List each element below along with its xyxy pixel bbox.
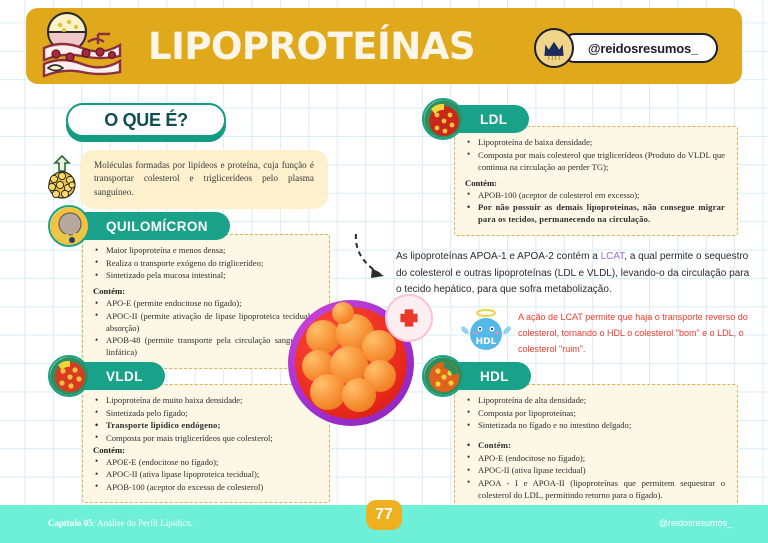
list-item: Composta por mais colesterol que triglic… [465, 149, 725, 173]
list-item: APOB-48 (permite transporte pela circula… [93, 334, 317, 358]
vldl-contem-list: APOE-E (endocitose no fígado); APOC-II (… [93, 456, 317, 493]
section-title-vldl: VLDL [106, 369, 143, 384]
section-header-ldl: LDL [430, 105, 529, 133]
lcat-text-part1: As lipoproteínas APOA-1 e APOA-2 contém … [396, 251, 601, 262]
footer-chapter-title: : Análise do Perfil Lipídico. [93, 518, 193, 528]
list-item: Por não possuir as demais lipoproteínas,… [465, 201, 725, 225]
list-item: Transporte lipídico endógeno; [93, 419, 317, 431]
brand-badge[interactable]: @reidosresumos_ [534, 28, 718, 68]
list-item: Maior lipoproteína e menos densa; [93, 244, 317, 256]
cholesterol-vessel-icon [40, 12, 124, 80]
footer-handle: @reidosresumos_ [659, 518, 732, 528]
quilomicron-contem-list: APO-E (permite endocitose no fígado); AP… [93, 297, 317, 358]
ldl-icon [422, 98, 464, 140]
quilomicron-icon [48, 205, 90, 247]
list-item: Composta por lipoproteínas; [465, 407, 725, 419]
hdl-icon [422, 355, 464, 397]
ldl-bullets: Lipoproteína de baixa densidade; Compost… [465, 136, 725, 173]
vldl-icon [48, 355, 90, 397]
red-note-text: A ação de LCAT permite que haja o transp… [518, 310, 754, 357]
section-title-hdl: HDL [480, 369, 509, 384]
lcat-highlight: LCAT [601, 251, 625, 262]
hdl-contem-list: Contém: APO-E (endocitose no fígado); AP… [465, 439, 725, 501]
section-header-vldl: VLDL [56, 362, 165, 390]
page-number-badge: 77 [366, 500, 402, 530]
list-item: Sintetizada no fígado e no intestino del… [465, 419, 725, 431]
list-item: Lipoproteína de baixa densidade; [465, 136, 725, 148]
hdl-contem-label: Contém: [465, 439, 725, 451]
list-item: APOC-II (permite ativação de lipase lipo… [93, 310, 317, 334]
page-title: LIPOPROTEÍNAS [148, 25, 475, 68]
list-item: APOC-II (ativa lipase tecidual) [465, 464, 725, 476]
lipoprotein-particle-illustration [288, 300, 414, 426]
list-item: APOE-E (endocitose no fígado); [93, 456, 317, 468]
lipid-blob [342, 378, 376, 412]
lipid-blob [306, 320, 340, 354]
ldl-contem-label: Contém: [465, 178, 725, 188]
list-item: Lipoproteína de alta densidade; [465, 394, 725, 406]
dashed-curved-arrow-icon [352, 232, 398, 291]
red-x-badge-icon [385, 294, 433, 342]
list-item: APOB-100 (aceptor de colesterol em exces… [465, 189, 725, 201]
intro-callout: Moléculas formadas por lipídeos e proteí… [80, 150, 328, 209]
hdl-angel-mascot-icon: HDL [459, 306, 513, 356]
list-item: APOA - I e APOA-II (lipoproteínas que pe… [465, 477, 725, 501]
ldl-content-box: Lipoproteína de baixa densidade; Compost… [454, 126, 738, 236]
hdl-content-box: Lipoproteína de alta densidade; Composta… [454, 384, 738, 511]
section-title-quilomicron: QUILOMÍCRON [106, 219, 208, 234]
list-item: APO-E (permite endocitose no fígado); [93, 297, 317, 309]
list-item: Sintetizado pela mucosa intestinal; [93, 269, 317, 281]
page-header: LIPOPROTEÍNAS @reidosresumos_ [26, 8, 742, 84]
list-item: Lipoproteína de muito baixa densidade; [93, 394, 317, 406]
section-title-ldl: LDL [480, 112, 507, 127]
list-item: Composta por mais triglicerídeos que col… [93, 432, 317, 444]
lipid-blob [332, 302, 354, 324]
footer-chapter: Capítulo 05: Análise do Perfil Lipídico. [48, 518, 193, 528]
list-item: APOC-II (ativa lipase lipoproteica tecid… [93, 468, 317, 480]
hdl-bullets: Lipoproteína de alta densidade; Composta… [465, 394, 725, 431]
list-item: Realiza o transporte exógeno do triglice… [93, 257, 317, 269]
section-header-hdl: HDL [430, 362, 531, 390]
vldl-contem-label: Contém: [93, 445, 317, 455]
lcat-explanation: As lipoproteínas APOA-1 e APOA-2 contém … [396, 249, 754, 299]
svg-text:HDL: HDL [476, 337, 497, 347]
ldl-contem-list: APOB-100 (aceptor de colesterol em exces… [465, 189, 725, 226]
section-header-quilomicron: QUILOMÍCRON [56, 212, 230, 240]
footer-chapter-label: Capítulo 05 [48, 518, 93, 528]
what-is-it-heading: O QUE É? [66, 103, 226, 137]
vldl-bullets: Lipoproteína de muito baixa densidade; S… [93, 394, 317, 444]
lcat-red-note: A ação de LCAT permite que haja o transp… [518, 310, 754, 357]
brand-handle: @reidosresumos_ [560, 33, 718, 63]
list-item: Sintetizada pelo fígado; [93, 407, 317, 419]
list-item: APOB-100 (aceptor do excesso de colester… [93, 481, 317, 493]
lipoprotein-arrow-icon [44, 155, 80, 199]
intro-text: Moléculas formadas por lipídeos e proteí… [94, 159, 314, 199]
lipid-blob [310, 374, 346, 410]
list-item: APO-E (endocitose no fígado); [465, 452, 725, 464]
crown-icon [534, 28, 574, 68]
quilomicron-bullets: Maior lipoproteína e menos densa; Realiz… [93, 244, 317, 281]
quilomicron-contem-label: Contém: [93, 286, 317, 296]
